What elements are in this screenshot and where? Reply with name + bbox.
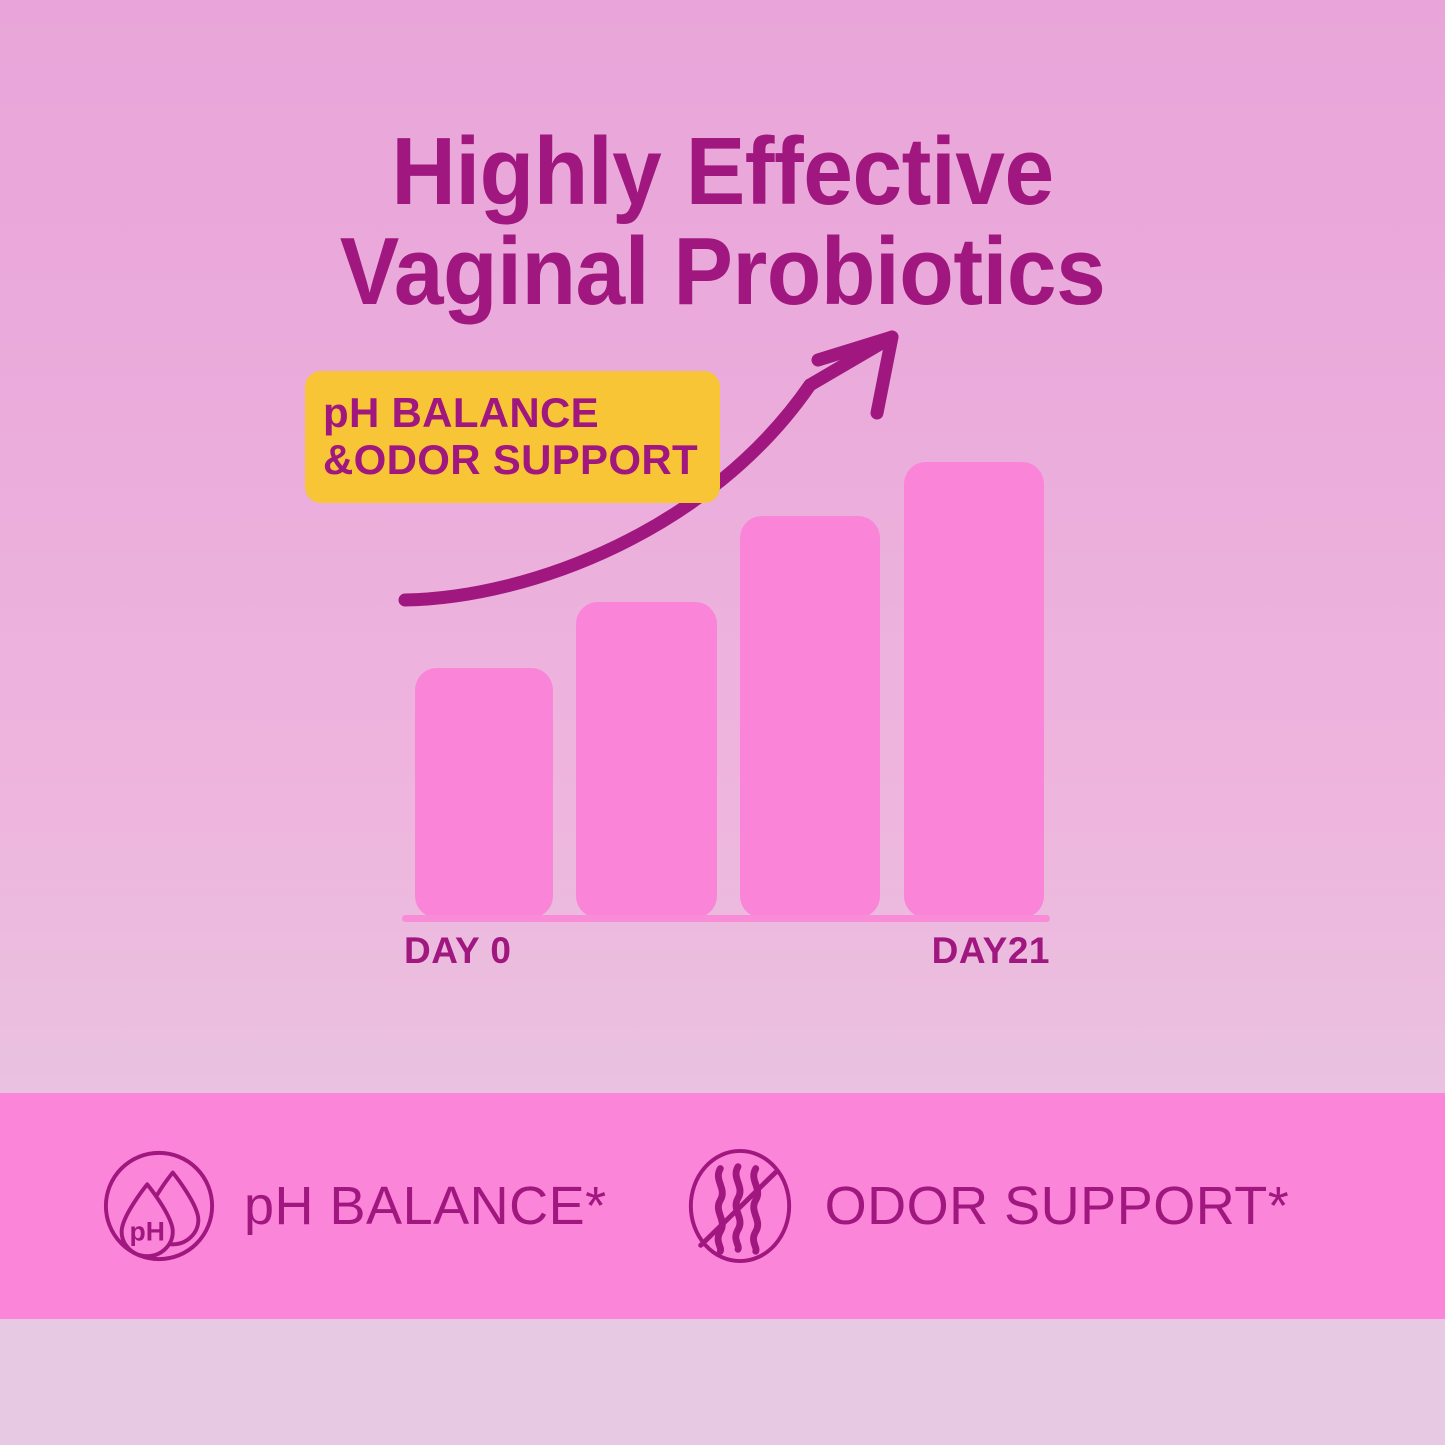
chart-bar-2 [576, 602, 717, 918]
bottom-strip [0, 1319, 1445, 1445]
feature-band: pH pH BALANCE* ODOR SUPPORT* [0, 1093, 1445, 1319]
ph-droplet-icon: pH [100, 1147, 218, 1265]
ph-icon-text: pH [130, 1216, 165, 1246]
feature-label-odor-support: ODOR SUPPORT* [825, 1175, 1290, 1237]
feature-label-ph-balance: pH BALANCE* [244, 1175, 607, 1237]
growth-bar-chart: DAY 0 DAY21 pH BALANCE &ODOR SUPPORT [0, 0, 1445, 1093]
no-odor-icon [681, 1147, 799, 1265]
axis-label-day-21: DAY21 [932, 930, 1050, 972]
feature-ph-balance: pH pH BALANCE* [100, 1147, 607, 1265]
chart-bar-1 [415, 668, 553, 918]
badge-line-1: pH BALANCE [323, 389, 698, 436]
product-infographic: Highly Effective Vaginal Probiotics DAY … [0, 0, 1445, 1445]
chart-baseline [402, 915, 1050, 922]
feature-odor-support: ODOR SUPPORT* [681, 1147, 1290, 1265]
axis-label-day-0: DAY 0 [404, 930, 511, 972]
badge-line-2: &ODOR SUPPORT [323, 436, 698, 483]
pH-odor-badge: pH BALANCE &ODOR SUPPORT [305, 371, 720, 503]
